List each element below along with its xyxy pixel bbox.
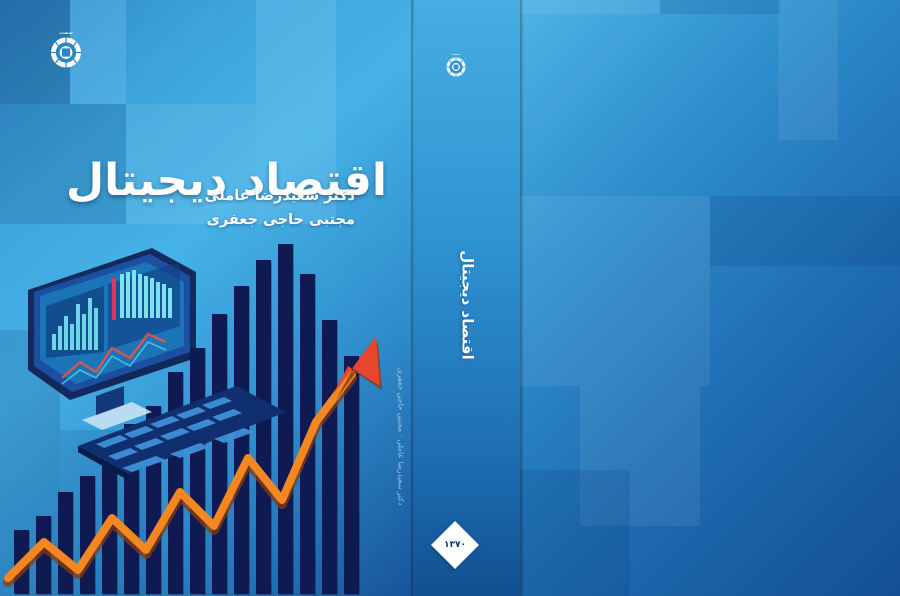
spine-badge-number: ۱۳۷۰: [444, 540, 466, 550]
deco-tile: [660, 0, 780, 14]
page-edge-shadow: [411, 0, 415, 596]
spine-title-text: اقتصاد دیجیتال: [459, 250, 477, 359]
book-cover: Digital Economy Saied Reza Ameli, PhD Mo…: [0, 0, 900, 596]
author-name: دکتر سعیدرضا عاملی: [55, 185, 355, 209]
deco-tile: [520, 470, 630, 596]
samt-sun-logo: سمت: [42, 24, 90, 72]
deco-tile: [778, 0, 838, 140]
monitor-illustration: [28, 248, 196, 430]
samt-sun-logo: سمت: [440, 48, 472, 80]
front-authors-persian: دکتر سعیدرضا عاملی مجتبی حاجی جعفری: [55, 185, 355, 233]
front-cover: سمت اقتصاد دیجیتال دکتر سعیدرضا عاملی مج…: [0, 0, 415, 596]
deco-tile: [710, 196, 900, 266]
svg-text:سمت: سمت: [452, 52, 460, 56]
spine-title: اقتصاد دیجیتال: [415, 210, 520, 400]
cover-illustration: [0, 230, 415, 596]
svg-text:سمت: سمت: [59, 30, 73, 36]
back-cover: Digital Economy Saied Reza Ameli, PhD Mo…: [520, 0, 900, 596]
deco-tile: [520, 0, 660, 14]
deco-tile: [520, 196, 710, 386]
page-edge-shadow: [520, 0, 524, 596]
